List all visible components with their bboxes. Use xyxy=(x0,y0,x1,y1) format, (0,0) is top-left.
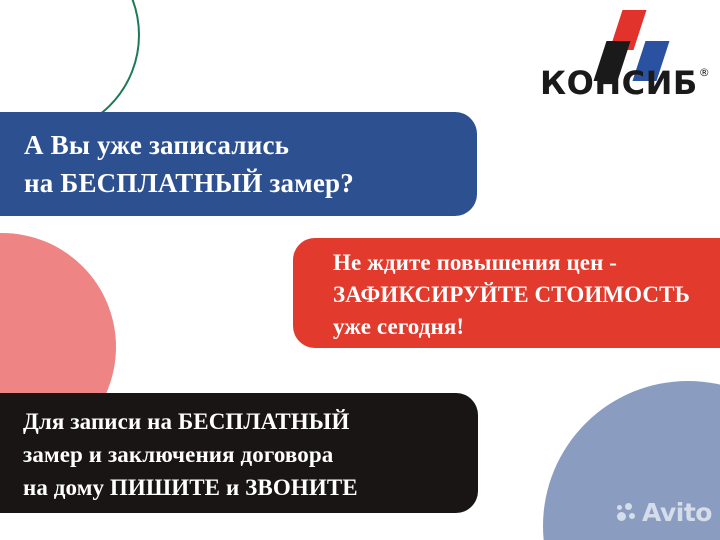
avito-dots-icon xyxy=(617,503,638,523)
headline-blue-line-2: на БЕСПЛАТНЫЙ замер? xyxy=(24,164,477,202)
headline-box-red: Не ждите повышения цен - ЗАФИКСИРУЙТЕ СТ… xyxy=(293,238,720,348)
konsib-logo-mark-icon xyxy=(540,8,712,66)
headline-box-black: Для записи на БЕСПЛАТНЫЙ замер и заключе… xyxy=(0,393,478,513)
konsib-brand-name: КОНСИБ xyxy=(540,66,698,100)
konsib-wordmark: КОНСИБ ® xyxy=(540,66,712,102)
konsib-logo: КОНСИБ ® xyxy=(540,8,712,103)
headline-box-blue: А Вы уже записались на БЕСПЛАТНЫЙ замер? xyxy=(0,112,477,216)
headline-red-line-1: Не ждите повышения цен - xyxy=(333,247,720,279)
headline-black-line-2: замер и заключения договора xyxy=(23,438,478,471)
headline-blue-line-1: А Вы уже записались xyxy=(24,126,477,164)
headline-black-line-3: на дому ПИШИТЕ и ЗВОНИТЕ xyxy=(23,471,478,504)
headline-black-line-1: Для записи на БЕСПЛАТНЫЙ xyxy=(23,405,478,438)
avito-watermark: Avito xyxy=(617,500,712,525)
headline-red-line-3: уже сегодня! xyxy=(333,311,720,343)
poster-canvas: Avito КОНСИБ ® А Вы уже записались на БЕ… xyxy=(0,0,720,540)
avito-watermark-label: Avito xyxy=(642,500,712,525)
registered-trademark-icon: ® xyxy=(699,67,710,78)
headline-red-line-2: ЗАФИКСИРУЙТЕ СТОИМОСТЬ xyxy=(333,279,720,311)
